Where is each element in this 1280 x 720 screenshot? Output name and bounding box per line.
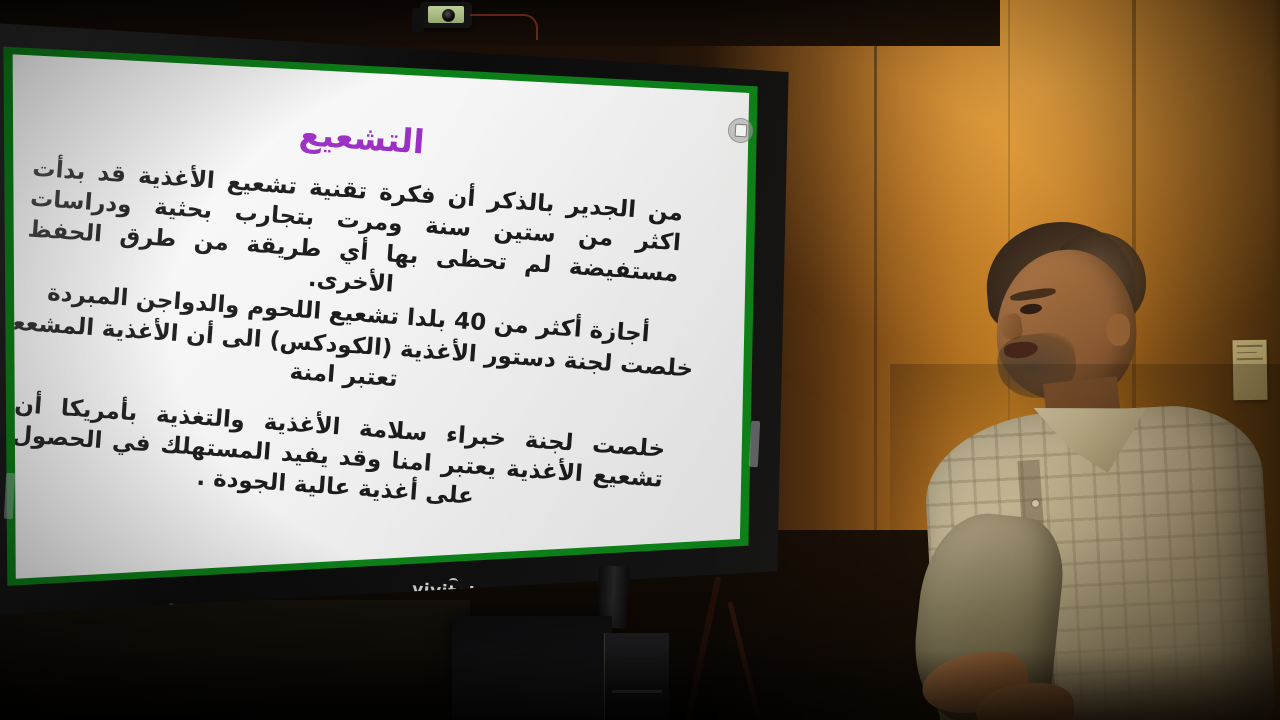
slide-green-border: التشعيع من الجدير بالذكر أن فكرة تقنية ت… bbox=[0, 40, 770, 592]
webcam-lens-icon bbox=[442, 9, 455, 22]
floor-shadow bbox=[0, 650, 1280, 720]
webcam-cable bbox=[470, 14, 538, 40]
slide-text-block: التشعيع من الجدير بالذكر أن فكرة تقنية ت… bbox=[0, 96, 714, 613]
presentation-room-photo: التشعيع من الجدير بالذكر أن فكرة تقنية ت… bbox=[0, 0, 1280, 720]
presenter-figure bbox=[900, 214, 1280, 720]
shirt-button bbox=[1032, 500, 1039, 507]
presentation-slide: التشعيع من الجدير بالذكر أن فكرة تقنية ت… bbox=[0, 40, 770, 592]
webcam-clip bbox=[412, 8, 424, 32]
vivitek-display[interactable]: التشعيع من الجدير بالذكر أن فكرة تقنية ت… bbox=[0, 18, 800, 618]
webcam-icon bbox=[420, 2, 472, 28]
presenter-ear bbox=[1106, 314, 1130, 346]
vivitek-logo-arc bbox=[449, 578, 458, 586]
